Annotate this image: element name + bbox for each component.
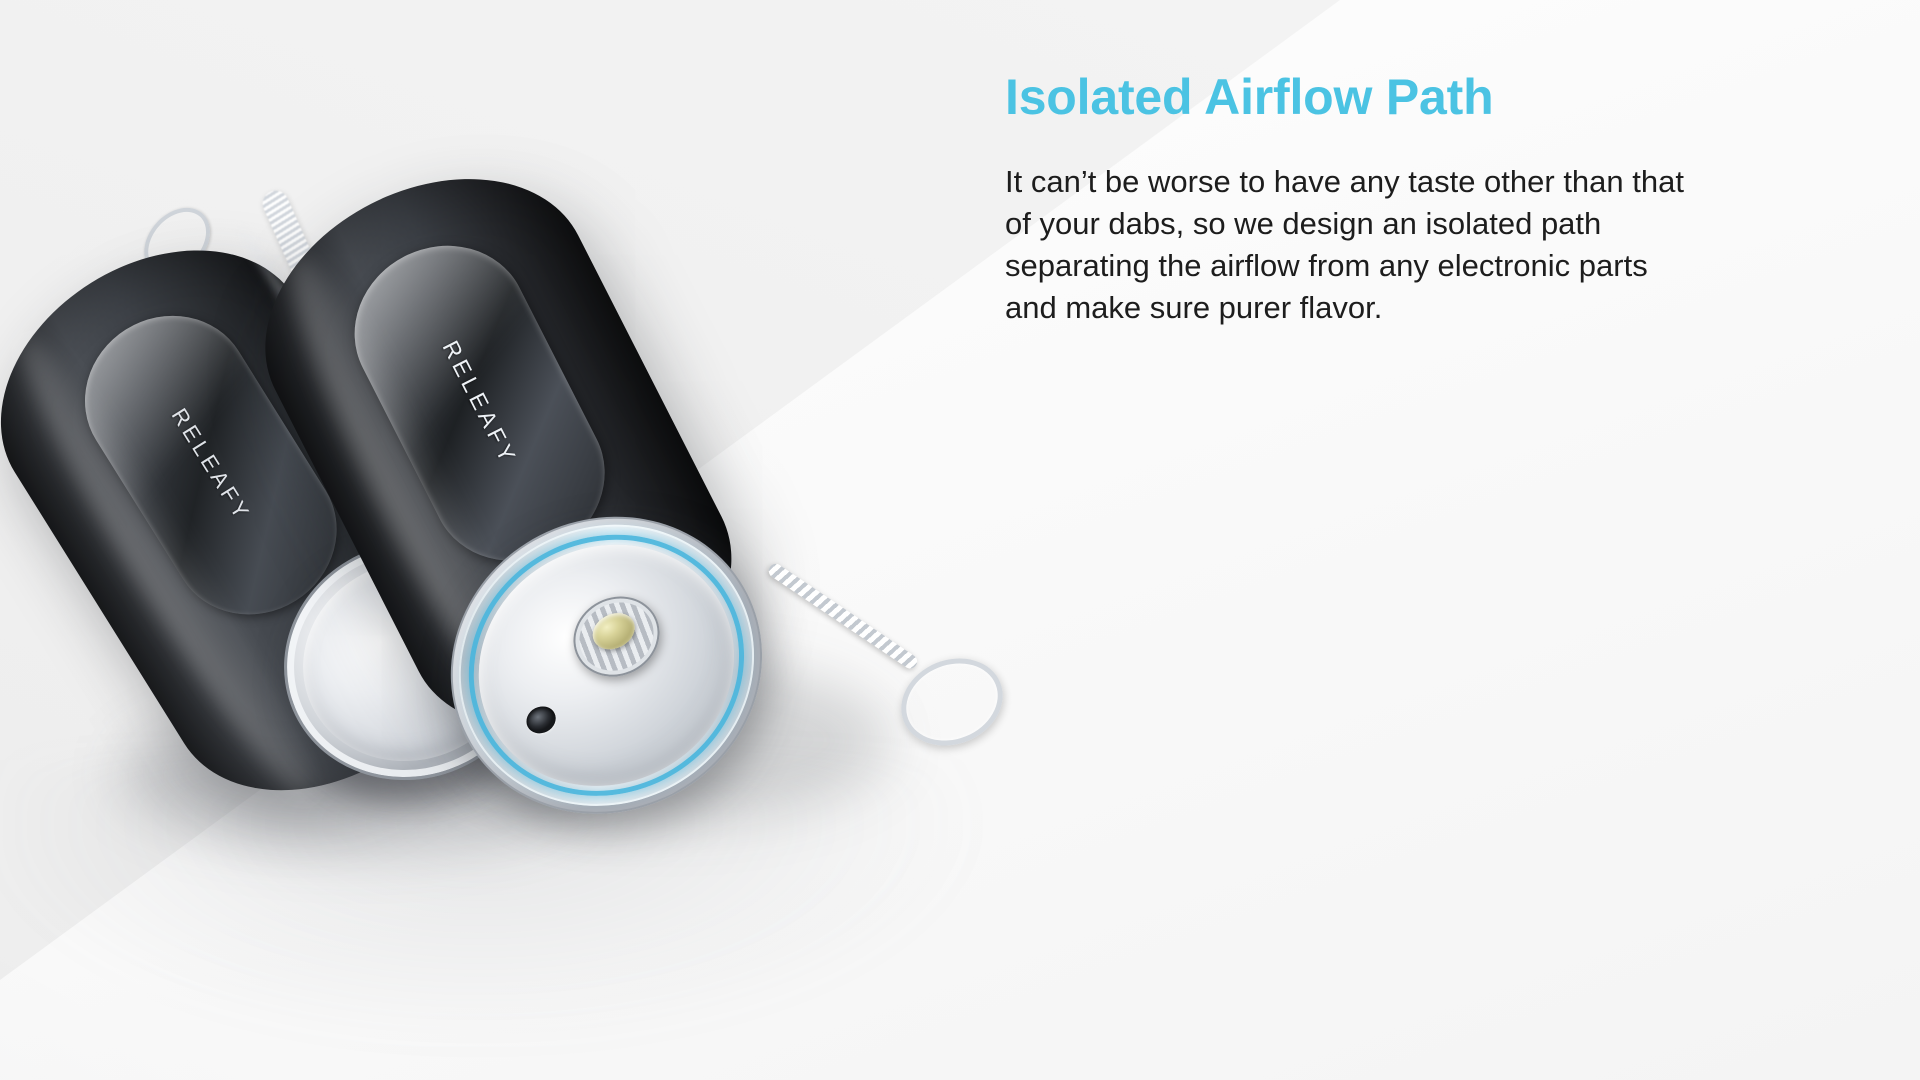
wire-brush-tool (770, 560, 1070, 840)
brand-label-right: RELEAFY (437, 336, 523, 470)
headline: Isolated Airflow Path (1005, 70, 1705, 125)
copy-block: Isolated Airflow Path It can’t be worse … (1005, 70, 1705, 330)
product-photo: RELEAFY RELEAFY (0, 0, 1060, 1080)
brass-contact-pin (586, 606, 641, 656)
brand-label-left: RELEAFY (166, 404, 256, 527)
body-paragraph: It can’t be worse to have any taste othe… (1005, 161, 1685, 330)
wire-brush-twisted-stem (766, 561, 920, 671)
scene: RELEAFY RELEAFY (0, 0, 1920, 1080)
